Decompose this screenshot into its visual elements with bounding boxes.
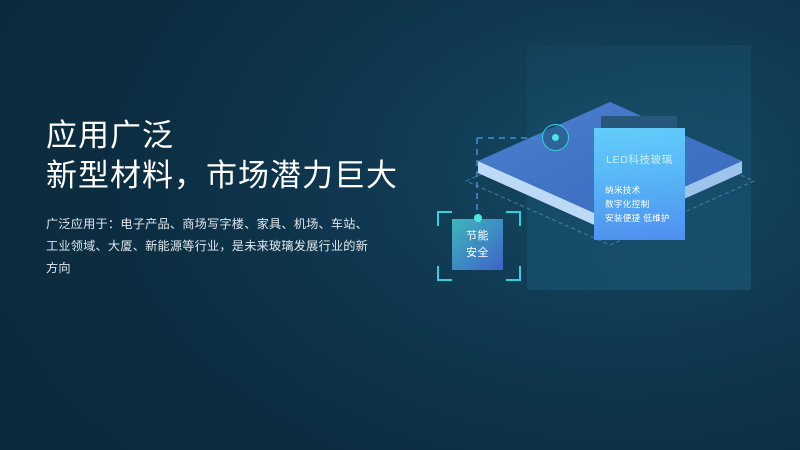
bracket-bottom-left (438, 266, 452, 280)
feature-tag-card[interactable]: 节能 安全 (452, 219, 503, 270)
bracket-top-right (506, 212, 520, 226)
circle-node-icon (542, 124, 569, 151)
bracket-top-left (438, 212, 452, 226)
circle-node-dot (552, 134, 559, 141)
feature-tag-label-line2: 安全 (452, 245, 503, 262)
page-title-line1: 应用广泛 (46, 116, 466, 156)
text-block: 应用广泛 新型材料，市场潜力巨大 广泛应用于：电子产品、商场写字楼、家具、机场、… (46, 116, 466, 279)
illustration-group: LED科技玻璃 纳米技术 数字化控制 安装便捷 低维护 节能 安全 (420, 30, 800, 330)
subtitle-text: 广泛应用于：电子产品、商场写字楼、家具、机场、车站、工业领域、大厦、新能源等行业… (46, 213, 371, 279)
feature-tag-label-line1: 节能 (452, 228, 503, 245)
feature-tag-label: 节能 安全 (452, 228, 503, 262)
page-title-line2: 新型材料，市场潜力巨大 (46, 156, 466, 196)
feature-tag-dot (474, 214, 482, 222)
presentation-slide: 应用广泛 新型材料，市场潜力巨大 广泛应用于：电子产品、商场写字楼、家具、机场、… (0, 0, 800, 450)
dashed-connector-icon (420, 30, 800, 330)
bracket-bottom-right (506, 266, 520, 280)
